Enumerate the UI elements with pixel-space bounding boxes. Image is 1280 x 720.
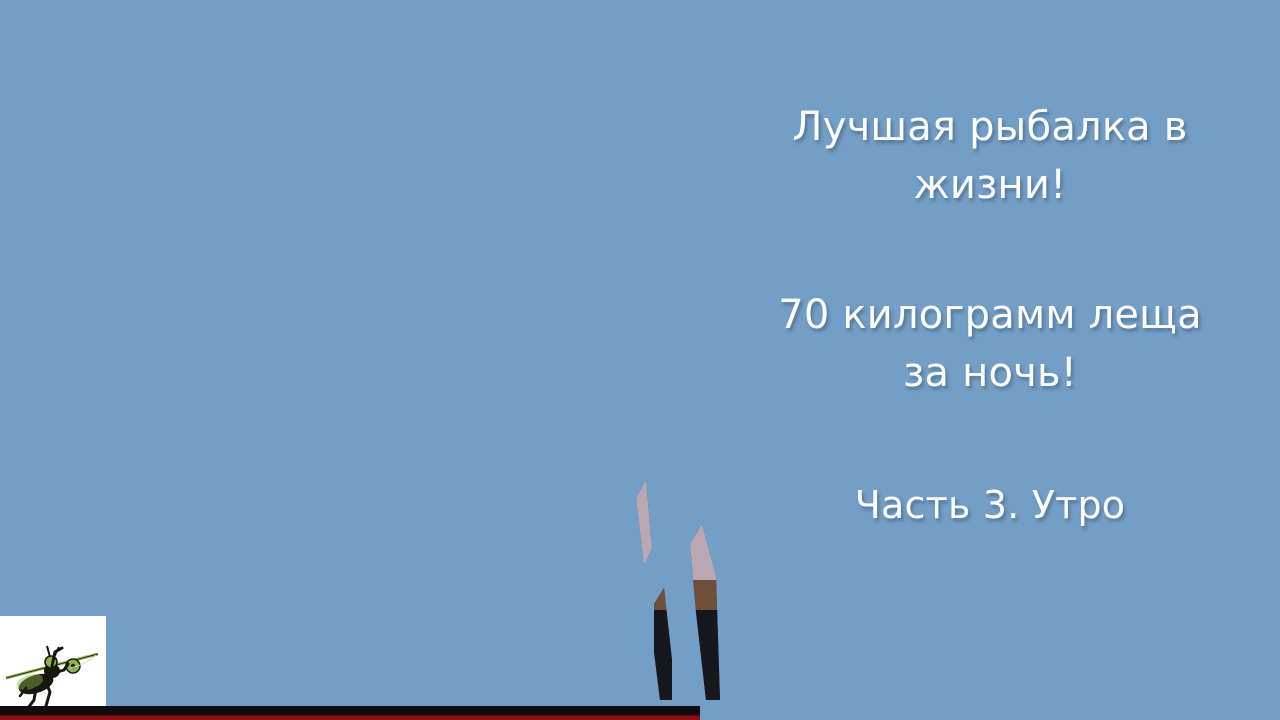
- headline-subtitle-line1: 70 килограмм леща: [778, 292, 1202, 338]
- progress-bar[interactable]: [0, 716, 700, 720]
- headline-column: Лучшая рыбалка в жизни! 70 килограмм лещ…: [700, 0, 1280, 720]
- headline-subtitle: 70 килограмм леща за ночь!: [725, 286, 1255, 402]
- headline-title-line2: жизни!: [914, 162, 1067, 208]
- player-bottom-strip: [0, 706, 700, 720]
- headline-title-line1: Лучшая рыбалка в: [792, 104, 1187, 150]
- headline-subtitle-line2: за ночь!: [903, 350, 1077, 396]
- channel-logo-box: [0, 616, 106, 712]
- headline-part-line1: Часть 3. Утро: [855, 483, 1125, 527]
- ant-with-fishing-rod-icon: [0, 616, 106, 712]
- headline-title: Лучшая рыбалка в жизни!: [725, 98, 1255, 214]
- video-thumbnail: salmo RS Fishing Equipment: [0, 0, 1280, 720]
- headline-part: Часть 3. Утро: [725, 476, 1255, 534]
